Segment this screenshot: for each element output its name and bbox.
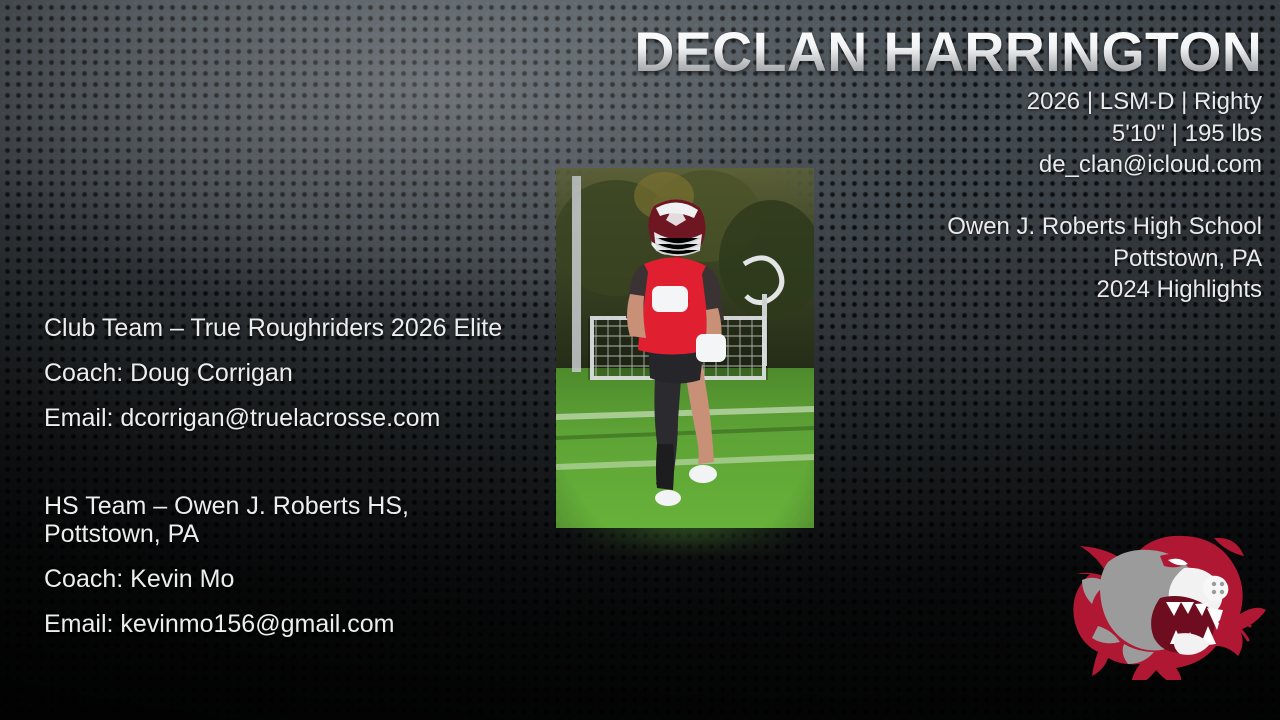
hs-team-coach: Coach: Kevin Mo — [44, 565, 514, 593]
photo-frame: OJR — [556, 168, 814, 528]
hs-team-name: HS Team – Owen J. Roberts HS, Pottstown,… — [44, 492, 514, 548]
wildcat-logo — [1064, 522, 1270, 680]
highlight-slide: OJR DECLAN HAR — [0, 0, 1280, 720]
highlight-year: 2024 Highlights — [947, 274, 1262, 306]
profile-line-height-weight: 5'10" | 195 lbs — [947, 118, 1262, 150]
profile-line-email: de_clan@icloud.com — [947, 149, 1262, 181]
info-spacer — [947, 181, 1262, 211]
athlete-info-panel: 2026 | LSM-D | Righty 5'10" | 195 lbs de… — [947, 86, 1262, 306]
club-team-name: Club Team – True Roughriders 2026 Elite — [44, 314, 514, 342]
school-name: Owen J. Roberts High School — [947, 211, 1262, 243]
hs-team-email: Email: kevinmo156@gmail.com — [44, 610, 514, 638]
school-location: Pottstown, PA — [947, 243, 1262, 275]
page-title: DECLAN HARRINGTON — [634, 24, 1262, 80]
panel-spacer — [44, 449, 514, 492]
club-team-email: Email: dcorrigan@truelacrosse.com — [44, 404, 514, 432]
coach-contact-panel: Club Team – True Roughriders 2026 Elite … — [44, 314, 514, 638]
action-photo: OJR — [556, 168, 814, 528]
profile-line-class-position-handed: 2026 | LSM-D | Righty — [947, 86, 1262, 118]
club-team-coach: Coach: Doug Corrigan — [44, 359, 514, 387]
